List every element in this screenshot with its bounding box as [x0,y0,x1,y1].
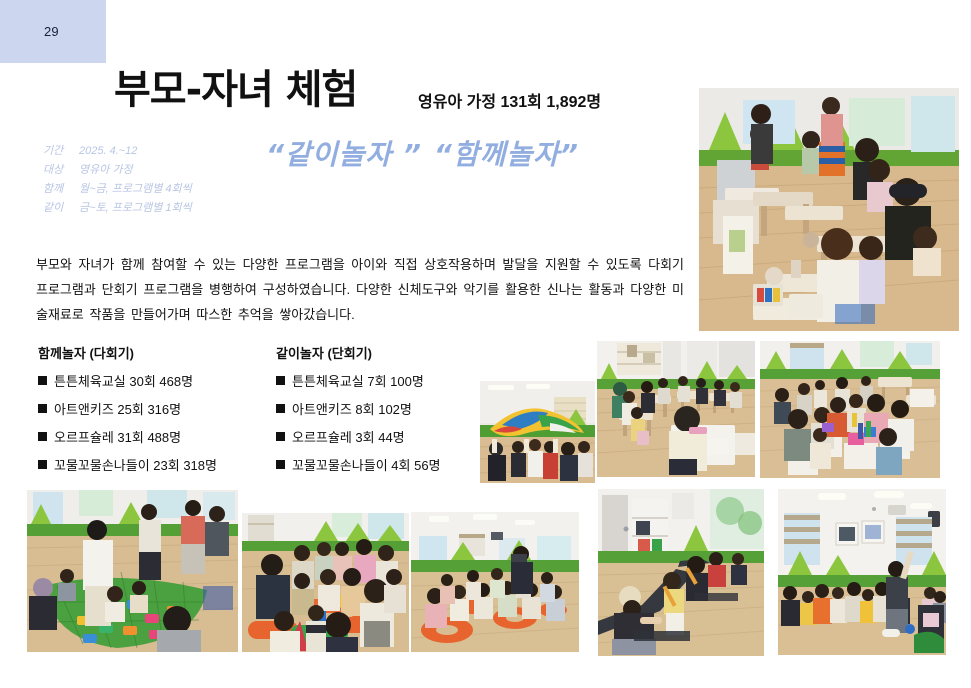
description-paragraph: 부모와 자녀가 함께 참여할 수 있는 다양한 프로그램을 아이와 직접 상호작… [36,252,684,327]
photo-soft-blocks-play-image [242,513,409,652]
photo-orange-donut-ring-image [411,512,579,652]
program-slogans: “같이놀자 ”“함께놀자” [266,133,579,173]
meta-value-together: 월~금, 프로그램별 4회씩 [79,183,192,195]
list-item: 아트앤키즈 25회 316명 [38,399,217,418]
list-item-label: 오르프슐레 31회 488명 [54,430,181,445]
list-items-together: 튼튼체육교실 30회 468명 아트앤키즈 25회 316명 오르프슐레 31회… [38,371,217,474]
slogan-left: “같이놀자 ” [266,138,422,171]
list-item: 아트앤키즈 8회 102명 [276,399,441,418]
list-item: 튼튼체육교실 30회 468명 [38,371,217,390]
square-bullet-icon [276,376,285,385]
photo-group-circle-hall [778,489,946,655]
list-item-label: 아트앤키즈 25회 316명 [54,402,181,417]
photo-classroom-tables [597,341,755,477]
photo-orange-donut-ring [411,512,579,652]
list-item: 튼튼체육교실 7회 100명 [276,371,441,390]
square-bullet-icon [276,460,285,469]
list-item-label: 꼬물꼬물손나들이 4회 56명 [292,458,441,473]
slide-root: 29 부모-자녀 체험 영유아 가정 131회 1,892명 “같이놀자 ”“함… [0,0,971,688]
photo-art-class-tables [699,88,959,331]
meta-row-together: 함께월~금, 프로그램별 4회씩 [43,180,192,199]
meta-row-target: 대상영유아 가정 [43,161,192,180]
list-item-label: 튼튼체육교실 30회 468명 [54,374,193,389]
meta-label-period: 기간 [43,142,79,161]
meta-value-period: 2025. 4.~12 [79,145,137,157]
page-number-badge: 29 [0,0,106,63]
page-number: 29 [44,24,59,39]
list-item-label: 아트앤키즈 8회 102명 [292,402,412,417]
list-item-label: 튼튼체육교실 7회 100명 [292,374,424,389]
slogan-right: “함께놀자” [434,138,579,171]
meta-value-gachi: 금~토, 프로그램별 1회씩 [79,202,192,214]
photo-green-mat-blocks-image [27,490,238,652]
meta-info-block: 기간2025. 4.~12 대상영유아 가정 함께월~금, 프로그램별 4회씩 … [43,142,192,218]
photo-group-circle-hall-image [778,489,946,655]
photo-parachute-play-image [480,381,595,483]
page-title: 부모-자녀 체험 [114,57,357,115]
list-heading-together: 함께놀자 (다회기) [38,343,217,362]
list-item-label: 꼬물꼬물손나들이 23회 318명 [54,458,217,473]
photo-parachute-play [480,381,595,483]
photo-floor-art-image [760,341,940,478]
square-bullet-icon [276,404,285,413]
square-bullet-icon [38,460,47,469]
meta-label-together: 함께 [43,180,79,199]
photo-soft-blocks-play [242,513,409,652]
list-items-gachi: 튼튼체육교실 7회 100명 아트앤키즈 8회 102명 오르프슐레 3회 44… [276,371,441,474]
square-bullet-icon [38,376,47,385]
list-together-multisession: 함께놀자 (다회기) 튼튼체육교실 30회 468명 아트앤키즈 25회 316… [38,343,217,483]
page-subtitle: 영유아 가정 131회 1,892명 [418,88,601,112]
square-bullet-icon [38,432,47,441]
photo-floor-art [760,341,940,478]
photo-art-class-tables-image [699,88,959,331]
list-item: 꼬물꼬물손나들이 23회 318명 [38,455,217,474]
meta-label-gachi: 같이 [43,199,79,218]
square-bullet-icon [38,404,47,413]
list-heading-gachi: 같이놀자 (단회기) [276,343,441,362]
list-item-label: 오르프슐레 3회 44명 [292,430,405,445]
meta-value-target: 영유아 가정 [79,164,133,176]
photo-rhythm-sticks-image [598,489,764,656]
photo-classroom-tables-image [597,341,755,477]
list-item: 꼬물꼬물손나들이 4회 56명 [276,455,441,474]
meta-row-period: 기간2025. 4.~12 [43,142,192,161]
photo-green-mat-blocks [27,490,238,652]
square-bullet-icon [276,432,285,441]
list-item: 오르프슐레 31회 488명 [38,427,217,446]
photo-rhythm-sticks [598,489,764,656]
list-gachi-singlesession: 같이놀자 (단회기) 튼튼체육교실 7회 100명 아트앤키즈 8회 102명 … [276,343,441,483]
list-item: 오르프슐레 3회 44명 [276,427,441,446]
meta-label-target: 대상 [43,161,79,180]
meta-row-gachi: 같이금~토, 프로그램별 1회씩 [43,199,192,218]
